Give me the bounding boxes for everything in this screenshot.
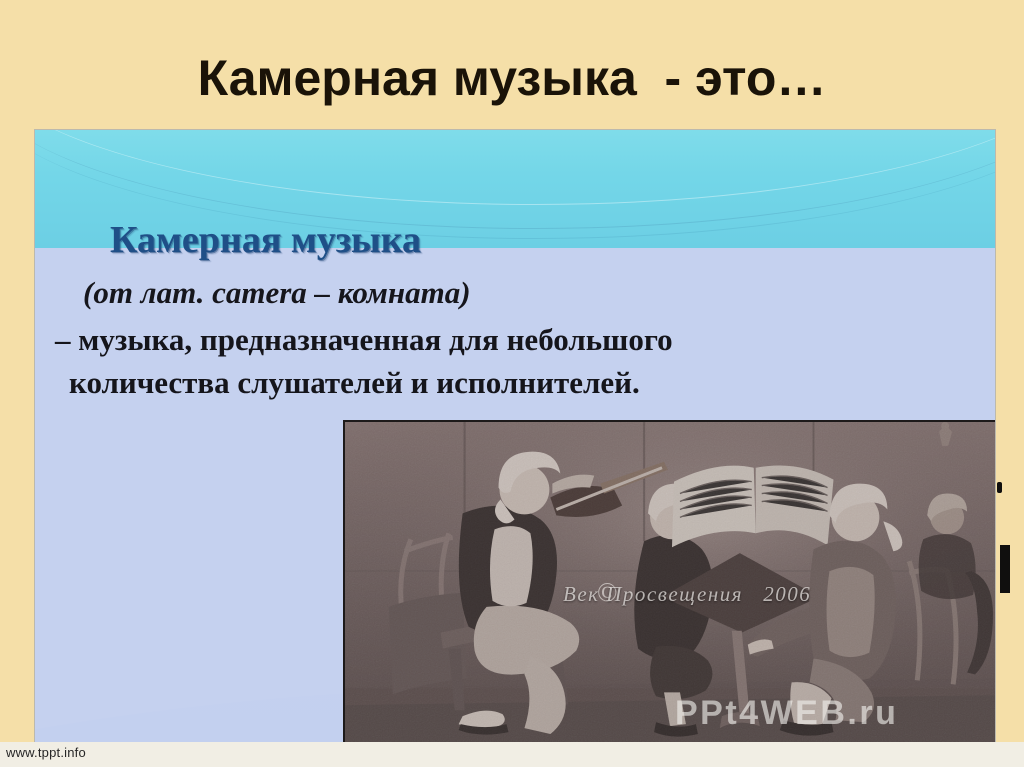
definition-body: – музыка, предназначенная для небольшого… <box>35 318 955 404</box>
page-title: Камерная музыка - это… <box>0 48 1024 108</box>
scan-artifact-dot <box>997 482 1002 493</box>
definition-line: количества слушателей и исполнителей. <box>55 361 955 404</box>
definition-text-block: Камерная музыка (от лат. camera – комнат… <box>35 218 995 404</box>
engraving-caption: Век Просвещения 2006 <box>563 582 811 607</box>
definition-latin-origin: (от лат. camera – комната) <box>35 274 995 312</box>
tppt-watermark: www.tppt.info <box>6 745 86 760</box>
engraving-image: © Век Просвещения 2006 PPt4WEB.ru <box>343 420 995 743</box>
footer-strip <box>0 742 1024 767</box>
slide-page: Камерная музыка - это… Камерная музыка (… <box>0 0 1024 767</box>
definition-heading: Камерная музыка <box>35 218 995 262</box>
title-band: Камерная музыка - это… <box>0 0 1024 130</box>
ppt4web-watermark: PPt4WEB.ru <box>675 694 898 733</box>
scan-artifact-bar <box>1000 545 1010 593</box>
slide-canvas: Камерная музыка (от лат. camera – комнат… <box>35 130 995 743</box>
definition-line: – музыка, предназначенная для небольшого <box>55 318 955 361</box>
